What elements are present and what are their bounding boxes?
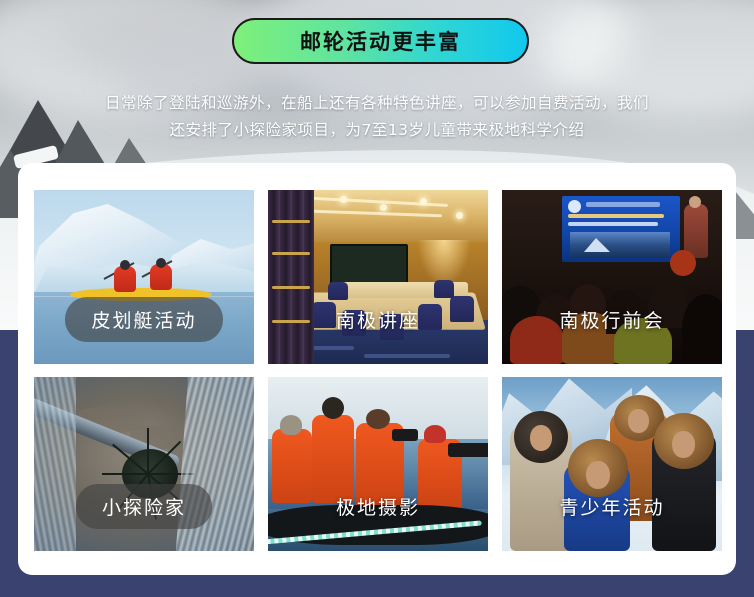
- section-title-text: 邮轮活动更丰富: [300, 26, 461, 56]
- projection-logo-icon: [568, 200, 581, 213]
- description-line-1: 日常除了登陆和巡游外，在船上还有各种特色讲座，可以参加自费活动，我们: [60, 90, 694, 117]
- section-description: 日常除了登陆和巡游外，在船上还有各种特色讲座，可以参加自费活动，我们 还安排了小…: [60, 90, 694, 144]
- sea-water: [34, 292, 254, 364]
- audience-hat-red: [670, 250, 696, 276]
- projection-text-line-2: [568, 222, 658, 226]
- section-title-banner: 邮轮活动更丰富: [232, 18, 529, 64]
- activity-card-photography[interactable]: 极地摄影: [268, 377, 488, 551]
- wall-display-screen: [330, 244, 408, 286]
- projection-title-line: [586, 202, 660, 207]
- polar-photography-photo: [268, 377, 488, 551]
- photographer-4-beanie: [424, 425, 446, 443]
- child-4-face: [586, 461, 610, 489]
- activity-card-lecture[interactable]: 南极讲座: [268, 190, 488, 364]
- photographer-1-jacket: [272, 429, 312, 503]
- youth-activity-photo: [502, 377, 722, 551]
- curtain-rail-4: [272, 320, 310, 323]
- urchin-spine-5: [102, 473, 148, 475]
- child-1-face: [530, 425, 552, 451]
- curtain-rail-2: [272, 252, 310, 255]
- chair-1: [312, 302, 336, 328]
- description-line-2: 还安排了小探险家项目，为7至13岁儿童带来极地科学介绍: [60, 117, 694, 144]
- yellow-kayak: [70, 288, 212, 301]
- activity-card-grid: 皮划艇活动: [34, 190, 722, 551]
- activity-card-youth[interactable]: 青少年活动: [502, 377, 722, 551]
- photographer-3-hood: [366, 409, 390, 429]
- lecture-room-photo: [268, 190, 488, 364]
- ceiling-spot-2: [380, 204, 387, 211]
- activity-card-explorer[interactable]: 小探险家: [34, 377, 254, 551]
- briefing-auditorium-photo: [502, 190, 722, 364]
- child-2-face: [628, 409, 649, 433]
- chair-4: [418, 304, 442, 330]
- activity-card-kayak[interactable]: 皮划艇活动: [34, 190, 254, 364]
- projection-screen: [562, 196, 680, 262]
- net-mesh-left: [34, 377, 76, 551]
- photographer-2-head: [322, 397, 344, 419]
- projection-text-line-1: [568, 214, 664, 218]
- sea-urchin-photo: [34, 377, 254, 551]
- projection-iceberg: [584, 238, 610, 252]
- ceiling-spot-3: [420, 198, 427, 205]
- presenter-head: [689, 196, 701, 208]
- camera-1: [392, 429, 418, 441]
- side-curtain: [268, 190, 314, 364]
- chair-2: [342, 310, 366, 336]
- camera-2-telephoto: [448, 443, 488, 457]
- chair-7: [434, 280, 454, 298]
- promo-page: 邮轮活动更丰富 日常除了登陆和巡游外，在船上还有各种特色讲座，可以参加自费活动，…: [0, 0, 754, 597]
- ceiling-spot-4: [456, 212, 463, 219]
- net-mesh-right: [176, 377, 254, 551]
- activity-card-briefing[interactable]: 南极行前会: [502, 190, 722, 364]
- audience-jacket-red: [510, 316, 564, 364]
- ceiling-spot-1: [340, 196, 347, 203]
- child-3-face: [672, 431, 695, 458]
- paddler-1-head: [120, 260, 130, 270]
- carpet-stripe-2: [364, 354, 450, 358]
- chair-3: [380, 314, 404, 340]
- curtain-rail-3: [272, 286, 310, 289]
- chair-5: [450, 296, 474, 322]
- paddler-2-head: [156, 258, 166, 268]
- chair-6: [328, 282, 348, 300]
- photographer-2-jacket: [312, 415, 354, 503]
- urchin-spine-7: [147, 428, 149, 474]
- photographer-1-hat: [280, 415, 302, 435]
- kayak-photo: [34, 190, 254, 364]
- audience-head-6: [682, 294, 722, 364]
- curtain-rail-1: [272, 220, 310, 223]
